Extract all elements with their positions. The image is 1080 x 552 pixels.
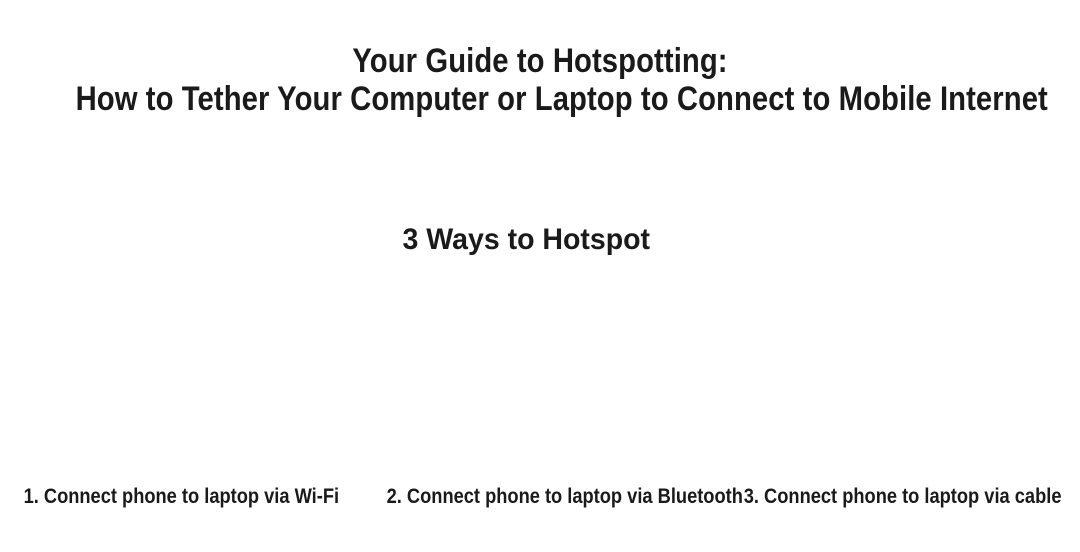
article-page: Your Guide to Hotspotting: How to Tether… bbox=[0, 0, 1080, 552]
section-heading: 3 Ways to Hotspot bbox=[0, 222, 1080, 258]
broken-image-placeholder bbox=[0, 286, 360, 476]
step-caption-label: 3. Connect phone to laptop via cable bbox=[744, 484, 1062, 510]
step-image-3 bbox=[720, 286, 1080, 476]
page-title-line-2: How to Tether Your Computer or Laptop to… bbox=[76, 80, 1005, 118]
broken-image-placeholder bbox=[720, 286, 1080, 476]
step-image-1 bbox=[0, 286, 360, 476]
steps-caption-row: 1. Connect phone to laptop via Wi-Fi 2. … bbox=[0, 484, 1080, 510]
step-image-2 bbox=[360, 286, 720, 476]
page-title: Your Guide to Hotspotting: How to Tether… bbox=[0, 42, 1080, 118]
page-title-line-1: Your Guide to Hotspotting: bbox=[76, 42, 1005, 80]
step-caption-label: 1. Connect phone to laptop via Wi-Fi bbox=[24, 484, 339, 510]
step-caption-label: 2. Connect phone to laptop via Bluetooth bbox=[387, 484, 743, 510]
section-heading-label: 3 Ways to Hotspot bbox=[403, 222, 651, 258]
steps-media-strip bbox=[0, 286, 1080, 476]
step-caption-3: 3. Connect phone to laptop via cable bbox=[720, 484, 1080, 510]
step-caption-1: 1. Connect phone to laptop via Wi-Fi bbox=[0, 484, 360, 510]
step-caption-2: 2. Connect phone to laptop via Bluetooth bbox=[360, 484, 720, 510]
broken-image-placeholder bbox=[360, 286, 720, 476]
